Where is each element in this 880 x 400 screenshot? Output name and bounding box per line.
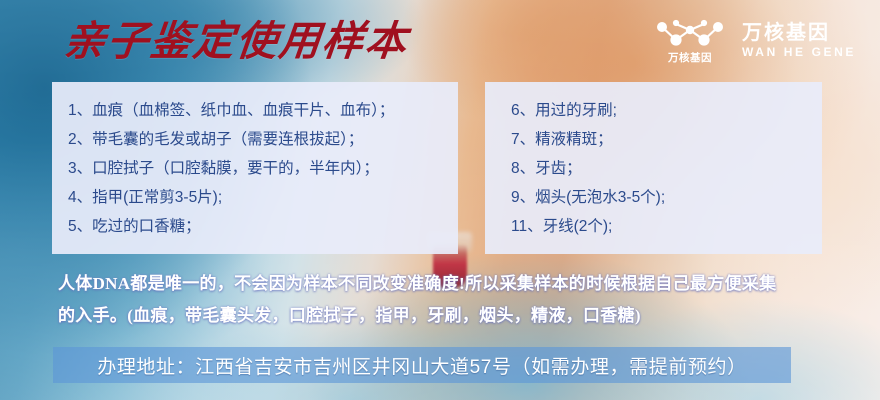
list-item: 4、指甲(正常剪3-5片); — [68, 183, 442, 212]
brand-mark-label: 万核基因 — [668, 53, 712, 64]
description-line-1: 人体DNA都是唯一的，不会因为样本不同改变准确度!所以采集样本的时候根据自己最方… — [58, 268, 848, 300]
list-item: 7、精液精斑； — [511, 125, 806, 154]
list-item: 1、血痕（血棉签、纸巾血、血痕干片、血布）； — [68, 96, 442, 125]
sample-list-right: 6、用过的牙刷; 7、精液精斑； 8、牙齿； 9、烟头(无泡水3-5个); 11… — [511, 96, 806, 241]
list-item: 11、牙线(2个); — [511, 212, 806, 241]
molecule-icon — [654, 18, 726, 50]
list-item: 6、用过的牙刷; — [511, 96, 806, 125]
list-item: 8、牙齿； — [511, 154, 806, 183]
list-item: 9、烟头(无泡水3-5个); — [511, 183, 806, 212]
brand-name-en: WAN HE GENE — [742, 46, 856, 58]
list-item: 3、口腔拭子（口腔黏膜，要干的，半年内）； — [68, 154, 442, 183]
sample-panel-right: 6、用过的牙刷; 7、精液精斑； 8、牙齿； 9、烟头(无泡水3-5个); 11… — [485, 82, 822, 254]
address-bar: 办理地址：江西省吉安市吉州区井冈山大道57号（如需办理，需提前预约） — [53, 347, 791, 383]
sample-list-left: 1、血痕（血棉签、纸巾血、血痕干片、血布）； 2、带毛囊的毛发或胡子（需要连根拔… — [68, 96, 442, 241]
description-paragraph: 人体DNA都是唯一的，不会因为样本不同改变准确度!所以采集样本的时候根据自己最方… — [58, 268, 848, 332]
address-text: 办理地址：江西省吉安市吉州区井冈山大道57号（如需办理，需提前预约） — [97, 352, 747, 379]
list-item: 2、带毛囊的毛发或胡子（需要连根拔起）； — [68, 125, 442, 154]
brand-name-cn: 万核基因 — [742, 23, 856, 44]
description-line-2: 的入手。(血痕，带毛囊头发，口腔拭子，指甲，牙刷，烟头，精液，口香糖) — [58, 300, 848, 332]
list-item: 5、吃过的口香糖； — [68, 212, 442, 241]
brand-logo: 万核基因 万核基因 WAN HE GENE — [654, 18, 856, 64]
page-title: 亲子鉴定使用样本 — [62, 19, 411, 64]
sample-panel-left: 1、血痕（血棉签、纸巾血、血痕干片、血布）； 2、带毛囊的毛发或胡子（需要连根拔… — [52, 82, 458, 254]
brand-mark: 万核基因 — [654, 18, 726, 64]
poster-root: 万核基因 万核基因 WAN HE GENE 亲子鉴定使用样本 1、血痕（血棉签、… — [0, 0, 880, 400]
brand-wordmark: 万核基因 WAN HE GENE — [742, 23, 856, 58]
